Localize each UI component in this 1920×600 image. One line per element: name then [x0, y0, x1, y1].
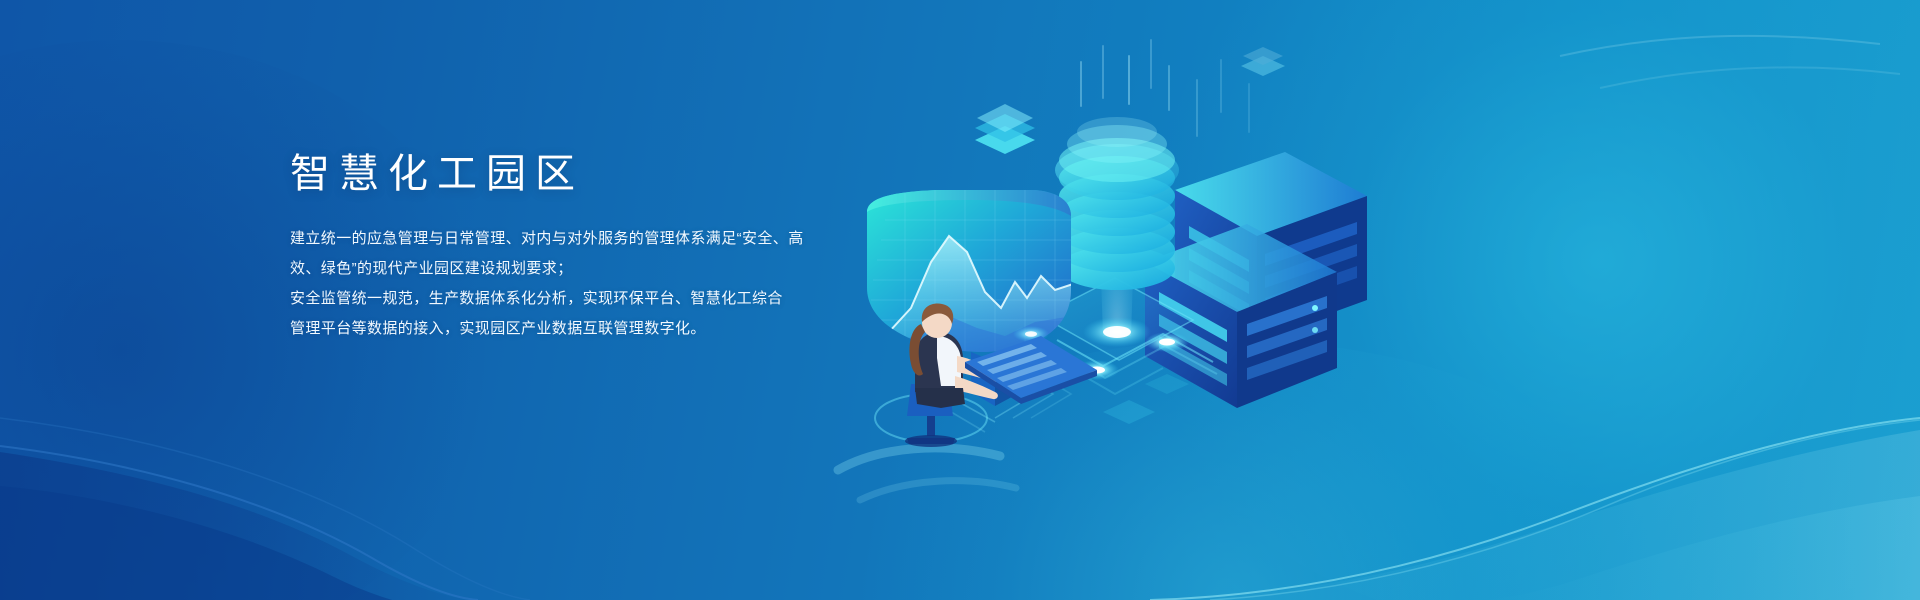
hero-description-line: 效、绿色”的现代产业园区建设规划要求；: [290, 254, 910, 284]
floating-chips: [1103, 374, 1189, 424]
hero-description-line: 安全监管统一规范，生产数据体系化分析，实现环保平台、智慧化工综合: [290, 284, 910, 314]
hero-banner: 智慧化工园区 建立统一的应急管理与日常管理、对内与对外服务的管理体系满足“安全、…: [0, 0, 1920, 600]
hero-description-line: 建立统一的应急管理与日常管理、对内与对外服务的管理体系满足“安全、高: [290, 224, 910, 254]
hero-content: 智慧化工园区 建立统一的应急管理与日常管理、对内与对外服务的管理体系满足“安全、…: [290, 150, 910, 344]
isometric-smart-park-illustration: [845, 40, 1385, 460]
hero-description: 建立统一的应急管理与日常管理、对内与对外服务的管理体系满足“安全、高 效、绿色”…: [290, 224, 910, 344]
page-title: 智慧化工园区: [290, 150, 910, 198]
floating-layers-icon-small: [1241, 47, 1285, 76]
hero-description-line: 管理平台等数据的接入，实现园区产业数据互联管理数字化。: [290, 314, 910, 344]
floating-layers-icon: [975, 104, 1035, 154]
